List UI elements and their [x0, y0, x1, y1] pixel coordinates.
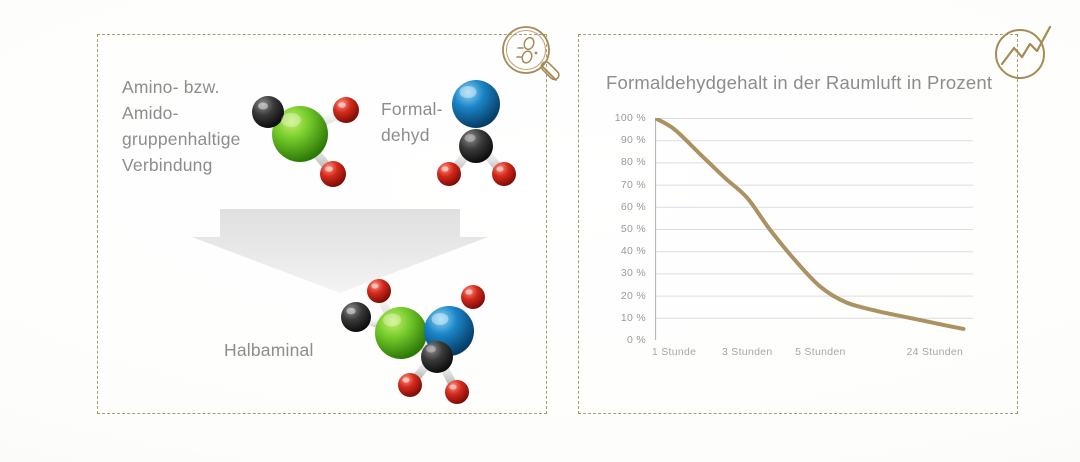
chart-title: Formaldehydgehalt in der Raumluft in Pro…: [606, 72, 992, 94]
x-axis-tick-label: 5 Stunden: [795, 346, 846, 358]
y-axis-ticks: 100 %90 %80 %70 %60 %50 %40 %30 %20 %10 …: [600, 118, 646, 340]
y-axis-tick-label: 0 %: [604, 334, 646, 346]
molecule-formaldehyd: [432, 70, 524, 192]
y-axis-tick-label: 40 %: [604, 245, 646, 257]
plot-area: [655, 118, 973, 340]
infographic-canvas: Amino- bzw. Amido- gruppenhaltige Verbin…: [0, 0, 1080, 462]
y-axis-tick-label: 90 %: [604, 134, 646, 146]
y-axis-tick-label: 70 %: [604, 179, 646, 191]
y-axis-tick-label: 30 %: [604, 267, 646, 279]
y-axis-tick-label: 50 %: [604, 223, 646, 235]
y-axis-tick-label: 60 %: [604, 201, 646, 213]
molecule-amino-compound: [238, 82, 368, 194]
x-axis-tick-label: 1 Stunde: [652, 346, 696, 358]
x-axis-tick-label: 24 Stunden: [906, 346, 963, 358]
molecule-halbaminal: [327, 275, 507, 407]
line-chart-circle-icon: [988, 18, 1056, 86]
decay-curve: [655, 118, 973, 340]
y-axis-tick-label: 100 %: [604, 112, 646, 124]
y-axis-tick-label: 80 %: [604, 156, 646, 168]
y-axis-tick-label: 10 %: [604, 312, 646, 324]
chart-area: 100 %90 %80 %70 %60 %50 %40 %30 %20 %10 …: [600, 118, 1000, 383]
y-axis-tick-label: 20 %: [604, 290, 646, 302]
label-halbaminal: Halbaminal: [224, 337, 314, 363]
x-axis-tick-label: 3 Stunden: [722, 346, 773, 358]
